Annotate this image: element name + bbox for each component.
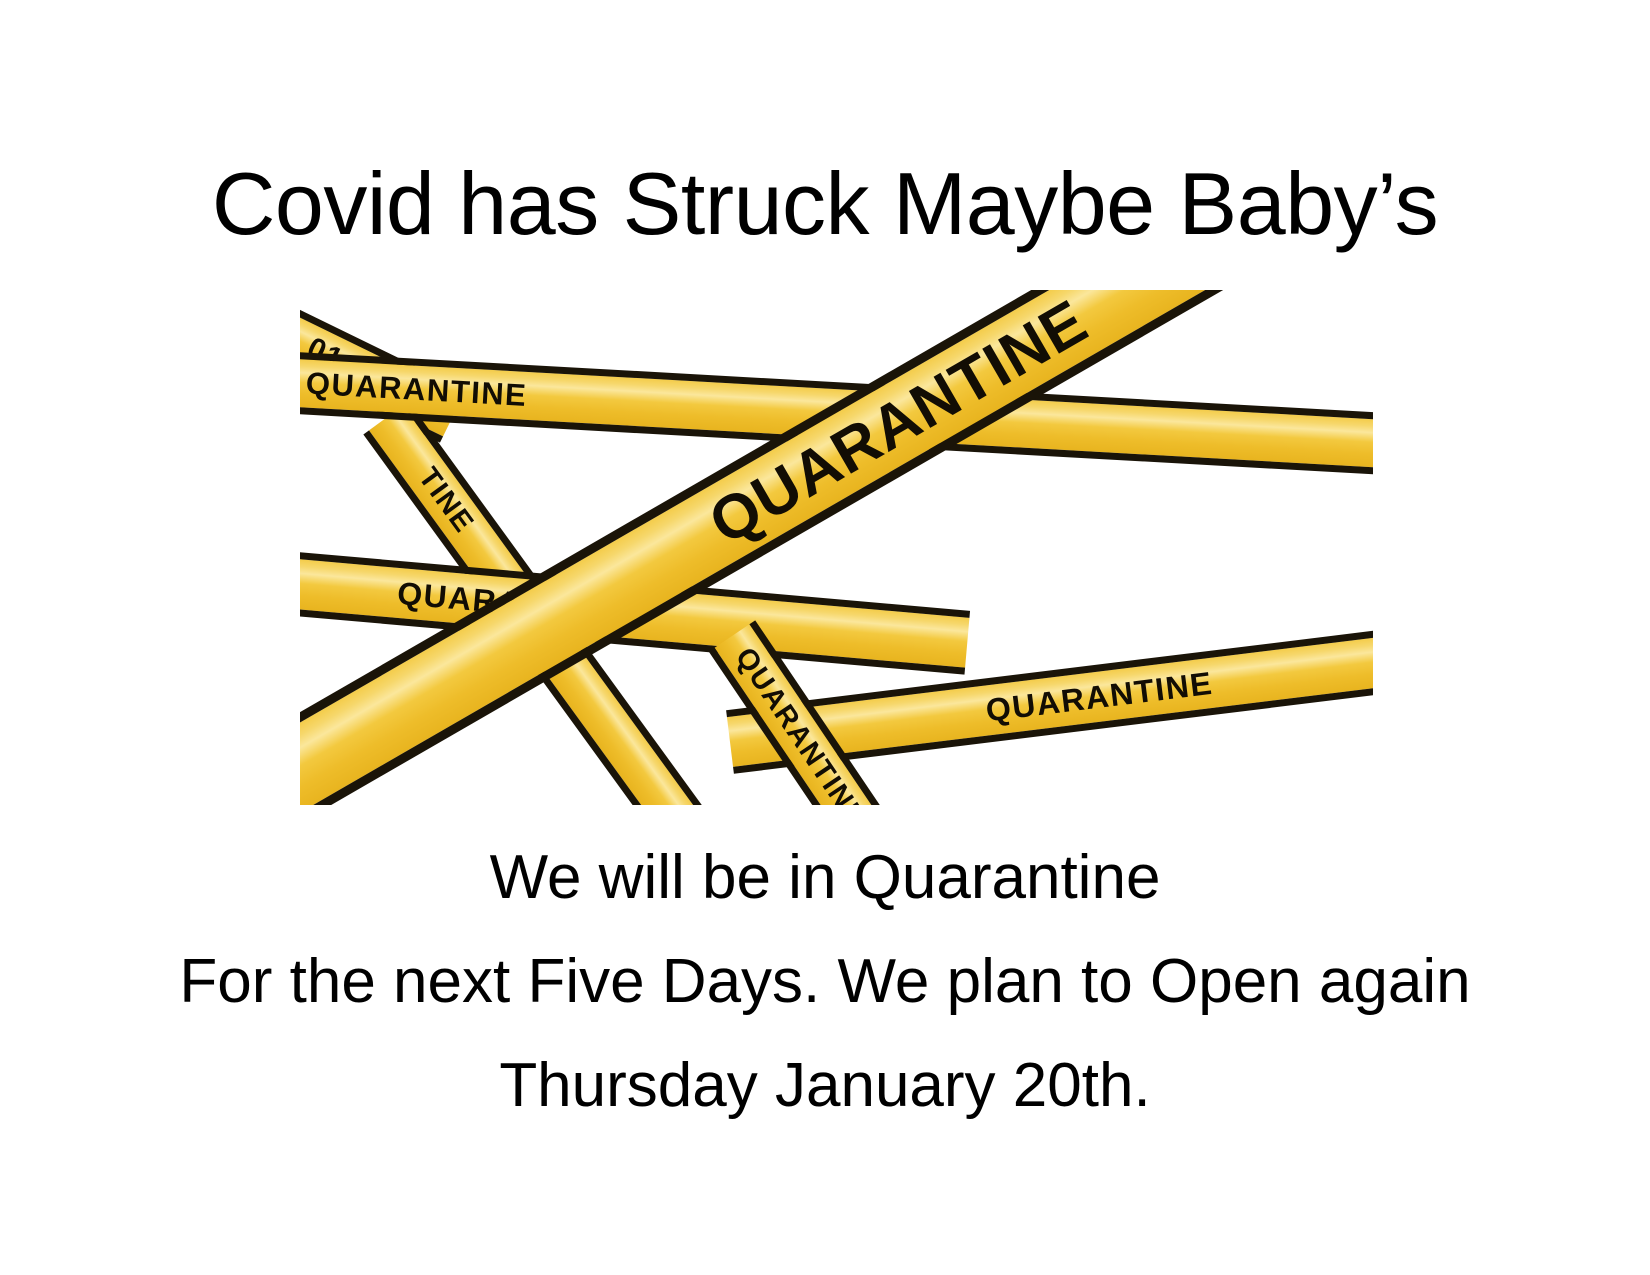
notice-body: We will be in Quarantine For the next Fi… <box>0 826 1650 1138</box>
tape-label: TINE <box>411 462 480 540</box>
tape-label: QUARANTINE <box>984 664 1215 729</box>
tape-label: QUARANTINE <box>305 366 528 414</box>
notice-line-3: Thursday January 20th. <box>0 1034 1650 1138</box>
page-title: Covid has Struck Maybe Baby’s <box>0 158 1650 250</box>
quarantine-tape-illustration: 01. TINE QUARANTINE QUARANTINE QUARANTIN… <box>300 290 1373 805</box>
notice-line-1: We will be in Quarantine <box>0 826 1650 930</box>
notice-line-2: For the next Five Days. We plan to Open … <box>0 930 1650 1034</box>
quarantine-notice-poster: Covid has Struck Maybe Baby’s 01. TINE Q… <box>0 0 1650 1275</box>
